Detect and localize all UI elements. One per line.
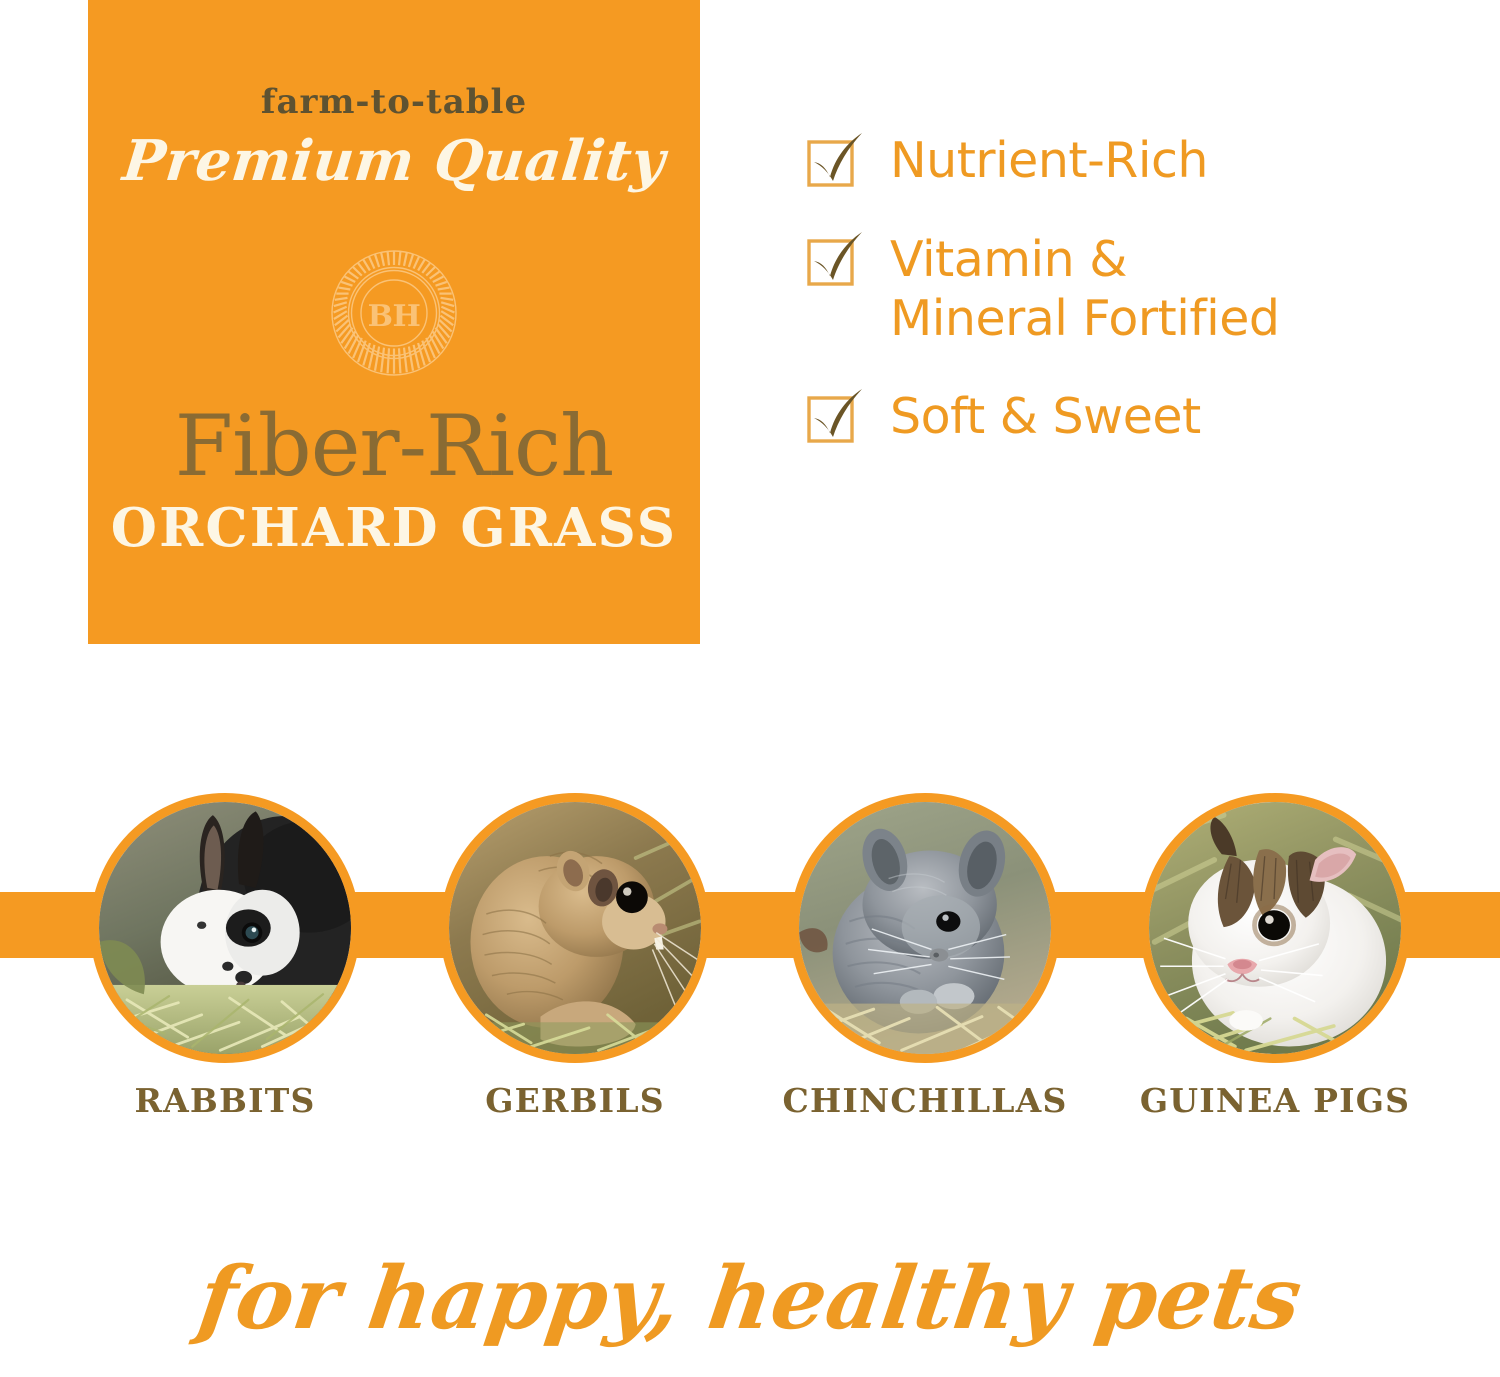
animal-label: GERBILS (485, 1081, 665, 1120)
eyebrow-text: farm-to-table (88, 82, 700, 122)
animal-item-chinchillas: CHINCHILLAS (790, 793, 1060, 1063)
animal-circle (790, 793, 1060, 1063)
product-name-light: Fiber-Rich (88, 404, 700, 488)
brand-seal-badge-icon: BH (329, 248, 459, 378)
gerbil-photo-icon (449, 802, 701, 1054)
product-infographic: farm-to-table Premium Quality (0, 0, 1500, 1377)
hero-panel: farm-to-table Premium Quality (88, 0, 700, 644)
feature-label-multiline: Vitamin & Mineral Fortified (890, 231, 1279, 349)
feature-label-line1: Vitamin & (890, 231, 1127, 288)
animal-item-gerbils: GERBILS (440, 793, 710, 1063)
animal-circle (440, 793, 710, 1063)
animal-label: GUINEA PIGS (1140, 1081, 1410, 1120)
guinea-pig-photo-icon (1149, 802, 1401, 1054)
animal-label: CHINCHILLAS (783, 1081, 1068, 1120)
animal-item-guinea-pigs: GUINEA PIGS (1140, 793, 1410, 1063)
feature-item-nutrient-rich: Nutrient-Rich (808, 132, 1428, 191)
feature-item-vitamin-mineral-fortified: Vitamin & Mineral Fortified (808, 231, 1428, 349)
chinchilla-photo-icon (799, 802, 1051, 1054)
checked-checkbox-icon (808, 239, 854, 285)
rabbit-photo-icon (99, 802, 351, 1054)
animal-label: RABBITS (134, 1081, 315, 1120)
seal-monogram-text: BH (368, 299, 421, 334)
quality-tagline: Premium Quality (85, 128, 704, 194)
feature-label-line2: Mineral Fortified (890, 290, 1279, 347)
feature-label: Soft & Sweet (890, 388, 1201, 447)
checked-checkbox-icon (808, 140, 854, 186)
feature-checklist: Nutrient-Rich Vitamin & Mineral Fortifie… (808, 132, 1428, 487)
feature-label: Nutrient-Rich (890, 132, 1208, 191)
animal-item-rabbits: RABBITS (90, 793, 360, 1063)
footer-tagline: for happy, healthy pets (0, 1248, 1500, 1349)
checked-checkbox-icon (808, 396, 854, 442)
animal-circle (1140, 793, 1410, 1063)
product-name-bold: ORCHARD GRASS (88, 502, 700, 555)
feature-item-soft-sweet: Soft & Sweet (808, 388, 1428, 447)
animal-circle (90, 793, 360, 1063)
